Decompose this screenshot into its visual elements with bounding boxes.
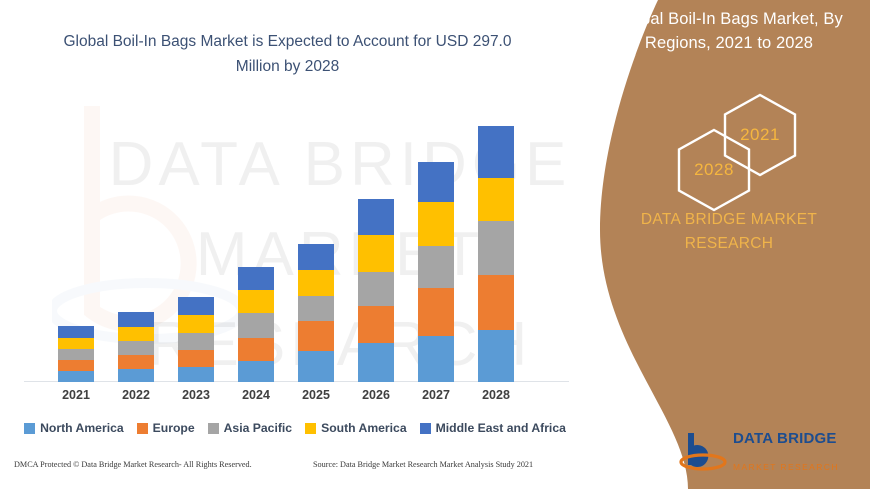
stacked-bars-group [0,0,600,382]
bar-segment-middle-east-and-africa [238,267,274,290]
bar-2023 [178,297,214,382]
panel-brand-name: DATA BRIDGE MARKET RESEARCH [590,208,868,256]
legend-item-south-america[interactable]: South America [305,421,407,435]
bar-segment-asia-pacific [418,246,454,288]
bar-segment-europe [418,288,454,336]
bar-segment-north-america [178,367,214,382]
dbmr-mark-icon [679,429,727,473]
bar-segment-europe [298,321,334,351]
bar-segment-south-america [58,338,94,349]
right-brand-panel: Global Boil-In Bags Market, By Regions, … [570,0,870,489]
bar-segment-middle-east-and-africa [478,126,514,178]
bar-segment-middle-east-and-africa [178,297,214,315]
brand-line-1: DATA BRIDGE MARKET [590,208,868,232]
bar-segment-europe [358,306,394,343]
bar-segment-middle-east-and-africa [58,326,94,338]
bar-segment-south-america [238,290,274,313]
bar-2025 [298,244,334,382]
footer-copyright: DMCA Protected © Data Bridge Market Rese… [14,460,252,469]
x-axis-label-2021: 2021 [46,388,106,402]
x-axis-labels: 20212022202320242025202620272028 [0,388,600,410]
bar-segment-north-america [118,369,154,382]
bar-segment-south-america [478,178,514,221]
panel-title: Global Boil-In Bags Market, By Regions, … [600,8,858,56]
legend-label: Middle East and Africa [436,421,566,435]
legend-swatch-icon [24,423,35,434]
bar-segment-middle-east-and-africa [418,162,454,202]
bar-segment-south-america [358,235,394,272]
legend-label: North America [40,421,124,435]
bar-segment-middle-east-and-africa [118,312,154,327]
footer: DMCA Protected © Data Bridge Market Rese… [0,458,600,482]
bar-2026 [358,199,394,382]
bar-2028 [478,126,514,382]
bar-segment-middle-east-and-africa [298,244,334,270]
bar-segment-europe [118,355,154,369]
dbmr-logo-subtext: MARKET RESEARCH [733,462,839,472]
bar-segment-europe [58,360,94,371]
bar-segment-asia-pacific [298,296,334,321]
bar-segment-europe [478,275,514,330]
bar-segment-middle-east-and-africa [358,199,394,235]
brand-line-2: RESEARCH [590,232,868,256]
footer-source: Source: Data Bridge Market Research Mark… [313,460,533,469]
x-axis-label-2026: 2026 [346,388,406,402]
chart-plot-area: 20212022202320242025202620272028 [0,0,600,420]
legend-item-middle-east-and-africa[interactable]: Middle East and Africa [420,421,566,435]
dbmr-logo: DATA BRIDGE MARKET RESEARCH [679,429,854,477]
bar-segment-europe [178,350,214,367]
infographic-page: DATA BRIDGE MARKET RESEARCH Global Boil-… [0,0,870,489]
bar-segment-asia-pacific [118,341,154,355]
x-axis-label-2022: 2022 [106,388,166,402]
bar-segment-asia-pacific [238,313,274,338]
bar-2021 [58,326,94,382]
bar-segment-asia-pacific [478,221,514,275]
x-axis-label-2024: 2024 [226,388,286,402]
legend-swatch-icon [208,423,219,434]
x-axis-label-2023: 2023 [166,388,226,402]
bar-2024 [238,267,274,382]
legend-item-asia-pacific[interactable]: Asia Pacific [208,421,292,435]
legend-label: South America [321,421,407,435]
bar-segment-south-america [118,327,154,341]
dbmr-logo-text: DATA BRIDGE [733,431,837,448]
bar-segment-north-america [238,361,274,382]
bar-2027 [418,162,454,382]
legend-label: Asia Pacific [224,421,292,435]
x-axis-label-2027: 2027 [406,388,466,402]
hexagon-2028-label: 2028 [676,127,752,213]
legend-label: Europe [153,421,195,435]
bar-segment-south-america [418,202,454,246]
bar-segment-north-america [418,336,454,382]
legend-swatch-icon [137,423,148,434]
bar-2022 [118,312,154,382]
x-axis-label-2025: 2025 [286,388,346,402]
bar-segment-asia-pacific [58,349,94,360]
chart-legend: North AmericaEuropeAsia PacificSouth Ame… [0,418,590,438]
legend-item-north-america[interactable]: North America [24,421,124,435]
x-axis-label-2028: 2028 [466,388,526,402]
legend-swatch-icon [305,423,316,434]
bar-segment-north-america [58,371,94,382]
bar-segment-north-america [478,330,514,382]
bar-segment-south-america [178,315,214,333]
bar-segment-north-america [358,343,394,382]
bar-segment-europe [238,338,274,361]
bar-segment-south-america [298,270,334,296]
bar-segment-north-america [298,351,334,382]
legend-swatch-icon [420,423,431,434]
hexagon-2028: 2028 [676,127,752,213]
bar-segment-asia-pacific [178,333,214,350]
legend-item-europe[interactable]: Europe [137,421,195,435]
bar-segment-asia-pacific [358,272,394,306]
